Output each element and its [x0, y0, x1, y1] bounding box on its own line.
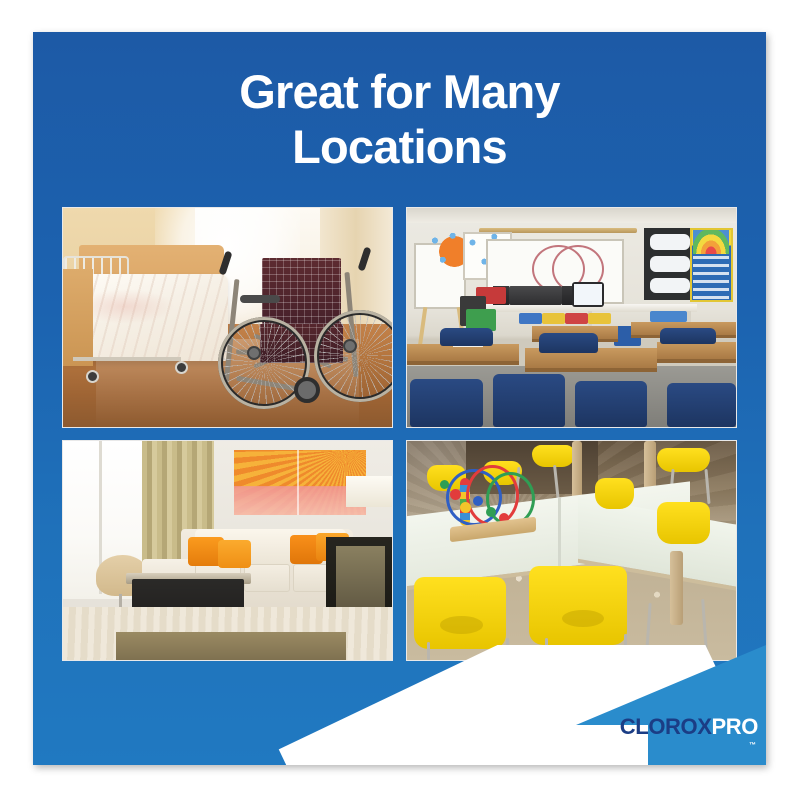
cloroxpro-logo[interactable]: CLOROXPRO: [620, 716, 758, 738]
photo-grid: [62, 207, 737, 661]
photo-daycare-room: [406, 440, 737, 661]
headline-line-1: Great for Many: [33, 64, 766, 119]
hotel-lounge-scene: [63, 441, 392, 660]
headline-line-2: Locations: [33, 119, 766, 174]
wheelchair: [211, 247, 392, 422]
page-title: Great for Many Locations: [33, 64, 766, 175]
healthcare-scene: [63, 208, 392, 427]
photo-healthcare-room: [62, 207, 393, 428]
photo-classroom: [406, 207, 737, 428]
logo-pro-text: PRO: [712, 714, 758, 739]
classroom-scene: [407, 208, 736, 427]
brand-footer: CLOROXPRO ™: [33, 645, 766, 765]
trademark-symbol: ™: [749, 742, 756, 749]
logo-clorox-text: CLOROX: [620, 714, 712, 739]
blue-card: Great for Many Locations: [33, 32, 766, 765]
daycare-scene: [407, 441, 736, 660]
photo-hotel-lounge: [62, 440, 393, 661]
poster-canvas: Great for Many Locations: [0, 0, 800, 800]
